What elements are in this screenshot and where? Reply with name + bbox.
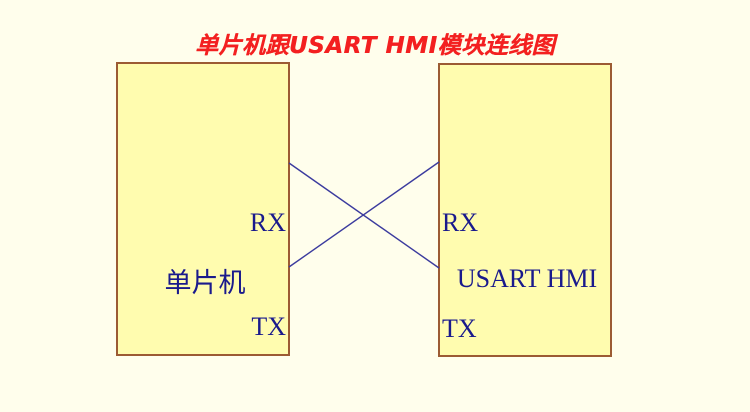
page-title: 单片机跟USART HMI模块连线图 <box>0 26 750 60</box>
pin-label-hmi-rx: RX <box>442 210 478 236</box>
pin-label-hmi-tx: TX <box>442 316 477 342</box>
block-mcu-label: 单片机 <box>118 261 292 300</box>
pin-label-mcu-rx: RX <box>250 210 286 236</box>
wire-mcu-tx-to-hmi-rx <box>289 162 439 267</box>
pin-label-mcu-tx: TX <box>251 314 286 340</box>
block-mcu[interactable]: 单片机 RX TX <box>116 62 290 356</box>
connection-wires <box>0 0 750 412</box>
block-usart-hmi[interactable]: USART HMI RX TX <box>438 63 612 357</box>
diagram-canvas: 单片机跟USART HMI模块连线图 单片机 RX TX USART HMI R… <box>0 0 750 412</box>
block-usart-hmi-label: USART HMI <box>440 264 614 294</box>
wire-mcu-rx-to-hmi-tx <box>289 163 439 268</box>
